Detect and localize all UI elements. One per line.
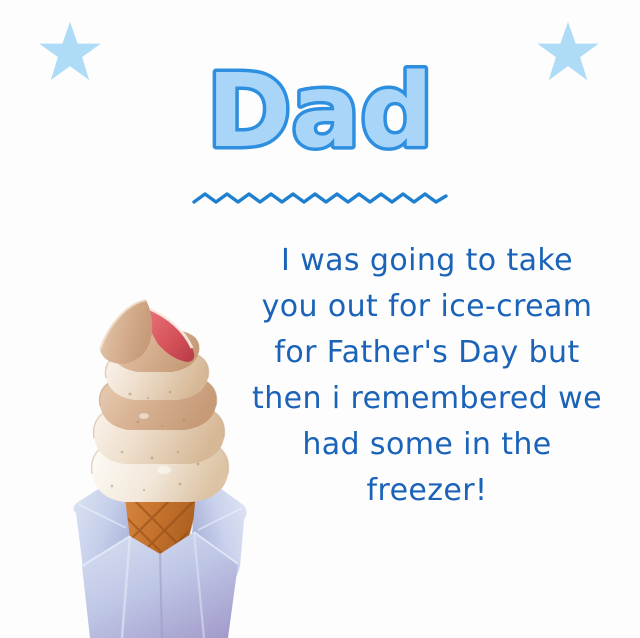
- message-line: you out for ice-cream: [232, 284, 622, 330]
- divider: [0, 186, 640, 212]
- message-line: freezer!: [232, 468, 622, 514]
- wavy-line-icon: [192, 186, 448, 208]
- fathers-day-card: Dad I was going to take you out for ice-…: [0, 0, 640, 638]
- message-line: for Father's Day but: [232, 330, 622, 376]
- title-dad-text: Dad: [170, 50, 470, 175]
- title-label: Dad: [207, 52, 434, 171]
- card-message: I was going to take you out for ice-crea…: [232, 238, 622, 514]
- message-line: I was going to take: [232, 238, 622, 284]
- ice-cream-cone-illustration: [52, 298, 267, 638]
- message-line: had some in the: [232, 422, 622, 468]
- message-line: then i remembered we: [232, 376, 622, 422]
- soft-serve-swirl: [92, 300, 229, 502]
- card-title: Dad: [0, 50, 640, 175]
